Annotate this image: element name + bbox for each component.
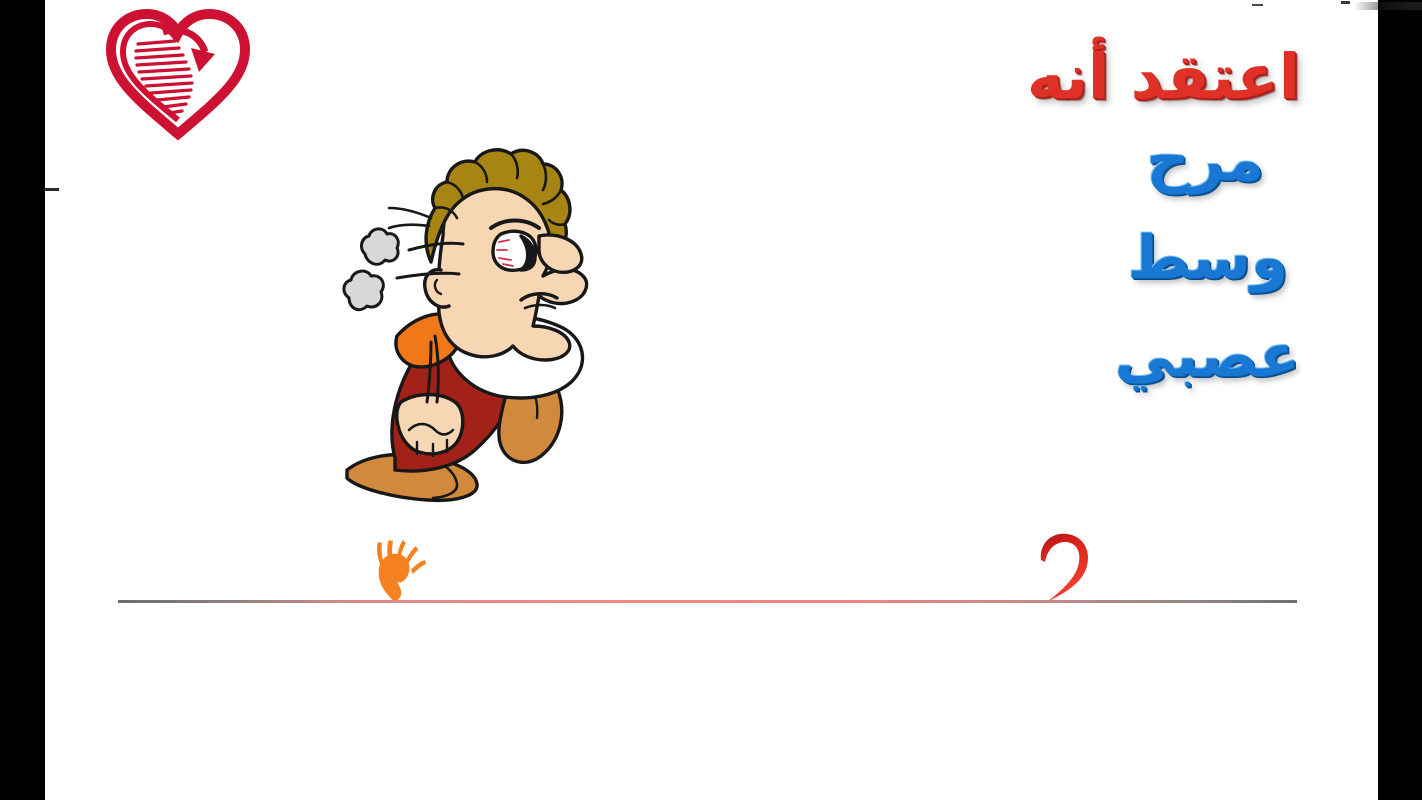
scan-artifact-top-left bbox=[1252, 4, 1263, 6]
keyword-line-middle: وسط bbox=[780, 228, 1300, 288]
scan-artifact-top-mid bbox=[1341, 1, 1350, 4]
letterbox-bar-left bbox=[0, 0, 45, 800]
keyword-line-merry: مرح bbox=[780, 130, 1300, 190]
heart-logo-icon bbox=[103, 8, 253, 140]
scan-artifact-top-right bbox=[1355, 2, 1422, 10]
red-hook-flourish-icon bbox=[1025, 530, 1105, 604]
keyword-line-nervous: عصبي bbox=[780, 326, 1300, 386]
section-divider-line bbox=[118, 600, 1297, 603]
letterbox-bar-right bbox=[1378, 0, 1422, 800]
heading-line-red: اعتقد أنه bbox=[780, 46, 1300, 108]
orange-fan-flourish-icon bbox=[355, 540, 437, 604]
angry-man-cartoon bbox=[335, 140, 627, 512]
arabic-text-column: اعتقد أنه مرح وسط عصبي bbox=[780, 46, 1300, 424]
slide-root: اعتقد أنه مرح وسط عصبي bbox=[0, 0, 1422, 800]
scan-edge-tick bbox=[45, 188, 59, 191]
slide-canvas: اعتقد أنه مرح وسط عصبي bbox=[45, 0, 1378, 800]
